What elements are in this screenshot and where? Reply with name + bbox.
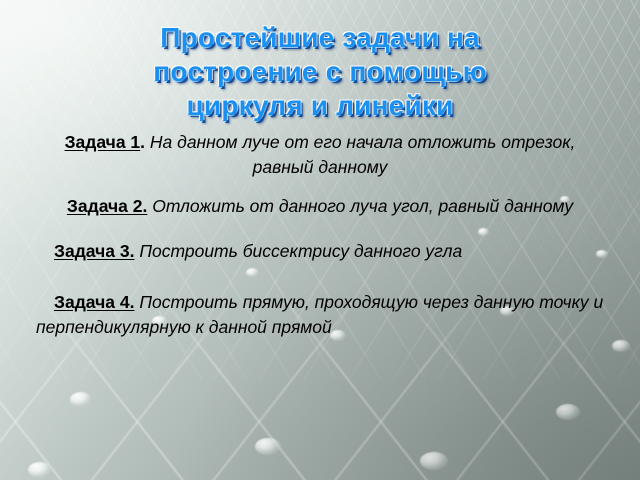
task-item-1: Задача 1. На данном луче от его начала о… (62, 130, 578, 180)
task-3-text: Построить биссектрису данного угла (134, 241, 462, 261)
task-list: Задача 1. На данном луче от его начала о… (0, 130, 640, 350)
task-2-text: Отложить от данного луча угол, равный да… (147, 196, 573, 216)
presentation-slide: Простейшие задачи на построение с помощь… (0, 0, 640, 480)
slide-title: Простейшие задачи на построение с помощь… (0, 21, 640, 123)
task-3-lead: Задача 3. (54, 241, 134, 261)
task-4-lead: Задача 4. (54, 292, 134, 312)
task-item-2: Задача 2. Отложить от данного луча угол,… (62, 194, 578, 219)
task-item-3: Задача 3. Построить биссектрису данного … (36, 239, 604, 264)
task-item-4: Задача 4. Построить прямую, проходящую ч… (36, 290, 604, 340)
task-2-lead: Задача 2. (67, 196, 147, 216)
task-1-lead: Задача 1 (65, 132, 141, 152)
task-1-text: На данном луче от его начала отложить от… (145, 132, 575, 177)
